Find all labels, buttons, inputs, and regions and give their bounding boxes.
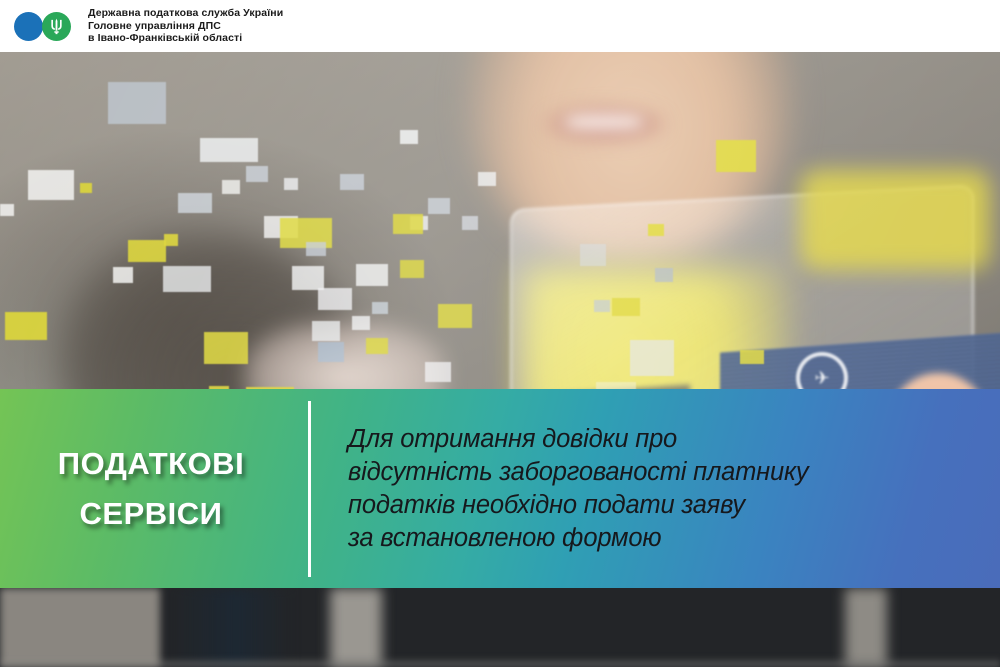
pixel-square bbox=[284, 178, 298, 190]
pixel-square-yellow bbox=[366, 338, 388, 354]
pixel-square-yellow bbox=[164, 234, 178, 246]
photo-bottom-gap bbox=[845, 588, 887, 667]
pixel-square bbox=[400, 130, 418, 144]
pixel-square bbox=[594, 300, 610, 312]
banner-title-line-2: СЕРВІСИ bbox=[0, 489, 302, 539]
pixel-square bbox=[0, 204, 14, 216]
dps-logo[interactable] bbox=[14, 10, 76, 42]
photo-tablet-yellow-blob bbox=[800, 170, 990, 270]
header-organisation-name: Державна податкова служба України Головн… bbox=[88, 7, 283, 45]
pixel-square-yellow bbox=[393, 214, 423, 234]
pixel-square bbox=[222, 180, 240, 194]
pixel-square bbox=[28, 170, 74, 200]
banner-body-line-3: податків необхідно подати заяву bbox=[348, 489, 980, 522]
banner-title-block: ПОДАТКОВІ СЕРВІСИ bbox=[0, 439, 308, 539]
pixel-square-yellow bbox=[612, 298, 640, 316]
ukraine-trident-icon bbox=[49, 18, 64, 35]
pixel-square bbox=[356, 264, 388, 286]
header-line-1: Державна податкова служба України bbox=[88, 7, 283, 20]
pixel-square-yellow bbox=[128, 240, 166, 262]
pixel-square bbox=[462, 216, 478, 230]
dps-logo-blue-circle bbox=[14, 12, 43, 41]
pixel-square bbox=[478, 172, 496, 186]
pixel-square bbox=[178, 193, 212, 213]
photo-bottom-seam bbox=[170, 588, 290, 667]
photo-bottom-strip bbox=[0, 588, 1000, 667]
pixel-square bbox=[246, 166, 268, 182]
header-line-3: в Івано-Франківській області bbox=[88, 32, 283, 45]
photo-person-teeth bbox=[565, 114, 643, 130]
photo-bottom-gap bbox=[330, 588, 382, 667]
header-line-2: Головне управління ДПС bbox=[88, 20, 283, 33]
banner-body-block: Для отримання довідки про відсутність за… bbox=[311, 423, 1000, 555]
photo-bottom-left-wall bbox=[0, 588, 160, 667]
pixel-square bbox=[108, 82, 166, 124]
pixel-square-yellow bbox=[5, 312, 47, 340]
pixel-square bbox=[306, 242, 326, 256]
tax-services-banner: ПОДАТКОВІ СЕРВІСИ Для отримання довідки … bbox=[0, 389, 1000, 588]
pixel-square-yellow bbox=[400, 260, 424, 278]
pixel-square bbox=[428, 198, 450, 214]
pixel-square bbox=[318, 288, 352, 310]
pixel-square bbox=[318, 342, 344, 362]
pixel-square-yellow bbox=[740, 350, 764, 364]
pixel-square bbox=[425, 362, 451, 382]
pixel-square bbox=[372, 302, 388, 314]
pixel-square bbox=[312, 321, 340, 341]
pixel-square bbox=[630, 340, 674, 376]
banner-body-line-4: за встановленою формою bbox=[348, 522, 980, 555]
tax-service-banner-page: ✈ ↗ ☻ ↻ ⚪ ☎ bbox=[0, 0, 1000, 667]
pixel-square-yellow bbox=[648, 224, 664, 236]
pixel-square bbox=[200, 138, 258, 162]
pixel-square-yellow bbox=[204, 332, 248, 364]
pixel-square-yellow bbox=[80, 183, 92, 193]
pixel-square bbox=[163, 266, 211, 292]
pixel-square bbox=[292, 266, 324, 290]
dps-logo-green-circle bbox=[42, 12, 71, 41]
photo-bottom-fade bbox=[0, 657, 1000, 667]
pixel-square bbox=[352, 316, 370, 330]
pixel-square bbox=[580, 244, 606, 266]
pixel-square bbox=[113, 267, 133, 283]
pixel-square-yellow bbox=[716, 140, 756, 172]
banner-body-line-2: відсутність заборгованості платнику bbox=[348, 456, 980, 489]
banner-title-line-1: ПОДАТКОВІ bbox=[0, 439, 302, 489]
banner-body-line-1: Для отримання довідки про bbox=[348, 423, 980, 456]
pixel-square bbox=[655, 268, 673, 282]
pixel-square-yellow bbox=[438, 304, 472, 328]
pixel-square bbox=[340, 174, 364, 190]
site-header: Державна податкова служба України Головн… bbox=[0, 0, 1000, 52]
